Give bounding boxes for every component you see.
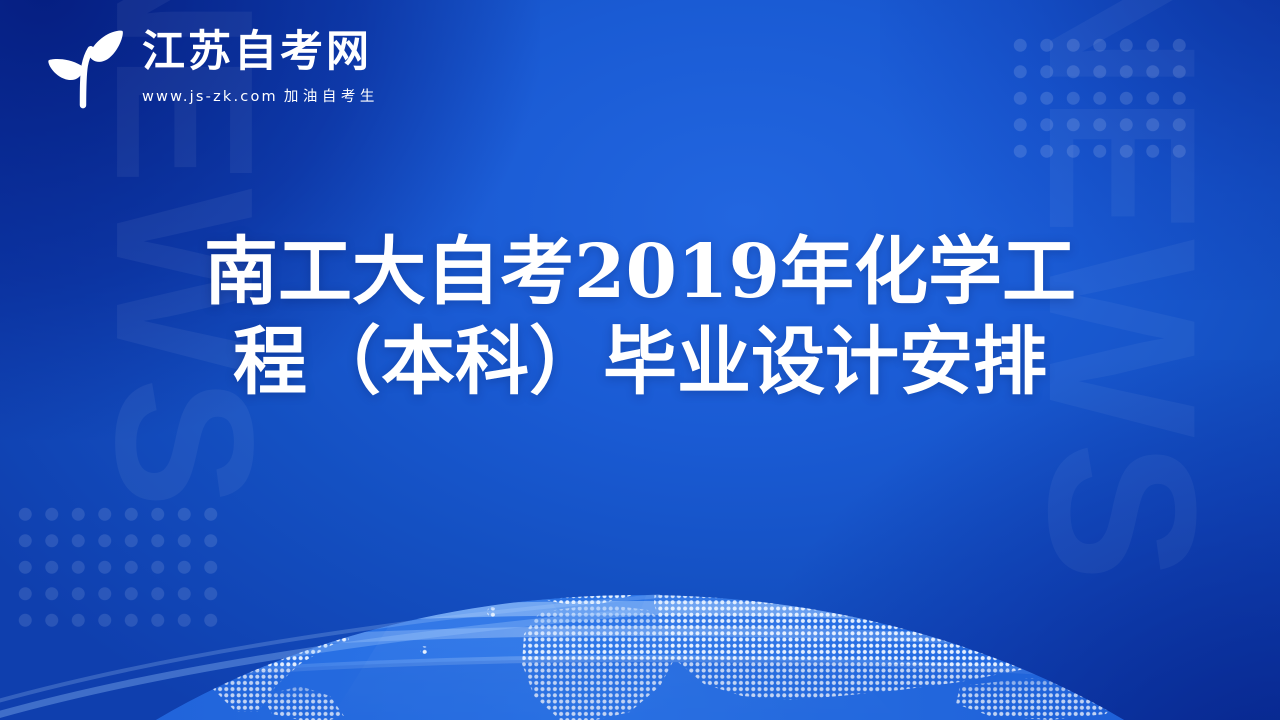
logo-website: www.js-zk.com <box>142 89 278 105</box>
sprout-leaf-icon <box>40 26 126 112</box>
background-vignette-bottom-right <box>760 360 1280 720</box>
site-logo[interactable]: 江苏自考网 www.js-zk.com加油自考生 <box>40 24 379 112</box>
page-title: 南工大自考2019年化学工程（本科）毕业设计安排 <box>0 228 1280 407</box>
logo-text-block: 江苏自考网 www.js-zk.com加油自考生 <box>142 24 379 106</box>
logo-tagline: www.js-zk.com加油自考生 <box>142 85 379 106</box>
news-cover-banner: NEWS NEWS <box>0 0 1280 720</box>
brand-name: 江苏自考网 <box>142 30 379 75</box>
logo-slogan: 加油自考生 <box>284 89 379 105</box>
